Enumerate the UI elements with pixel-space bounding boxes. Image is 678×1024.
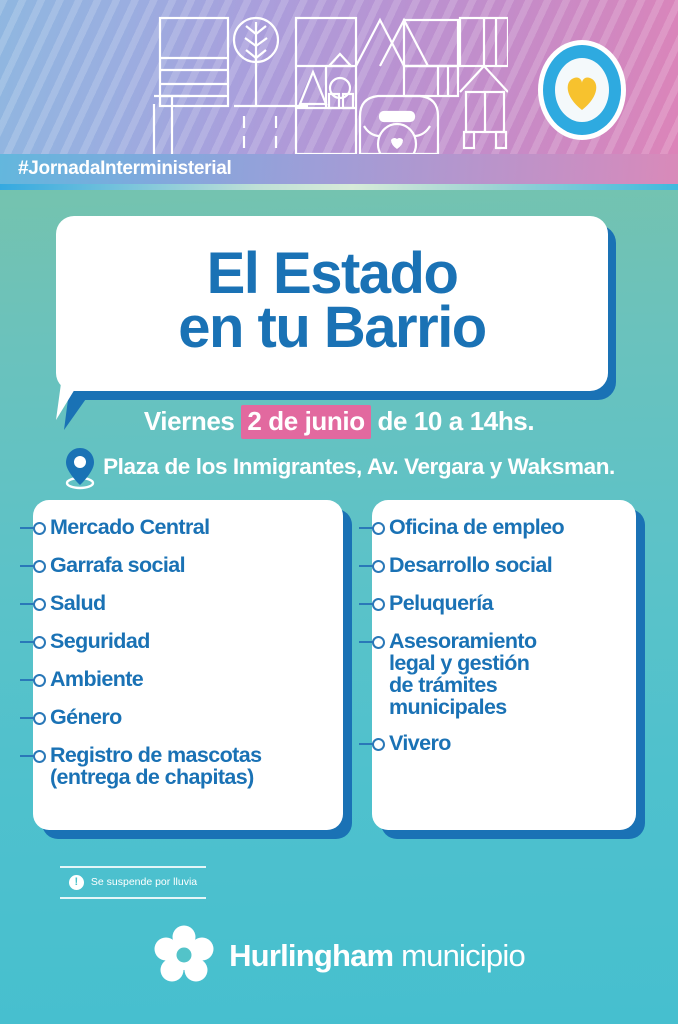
services-list-right: Oficina de empleo Desarrollo social Pelu… [372, 500, 636, 771]
list-item[interactable]: Ambiente [33, 669, 343, 693]
service-label-line3: de trámites [389, 675, 537, 697]
poster-footer: ! Se suspende por lluvia [0, 855, 678, 911]
list-item[interactable]: Asesoramiento legal y gestión de trámite… [372, 631, 636, 719]
header-underline-band [0, 184, 678, 190]
flower-logo-icon [153, 925, 215, 987]
list-item[interactable]: Oficina de empleo [372, 517, 636, 541]
service-label: Asesoramiento [389, 629, 537, 653]
bullet-circle-icon [20, 745, 50, 769]
rain-divider-bottom [60, 897, 206, 899]
date-prefix: Viernes [144, 406, 235, 436]
service-label: Seguridad [50, 629, 150, 653]
bullet-circle-icon [359, 733, 389, 757]
list-item[interactable]: Vivero [372, 733, 636, 757]
page-title: El Estado en tu Barrio [178, 247, 486, 361]
argentine-cockade-heart-icon [532, 36, 632, 144]
service-label: Oficina de empleo [389, 515, 564, 539]
municipality-name: Hurlingham municipio [229, 938, 525, 974]
services-list-left: Mercado Central Garrafa social Salud Seg… [33, 500, 343, 803]
rain-notice-label: Se suspende por lluvia [91, 876, 197, 888]
bubble-face: El Estado en tu Barrio [56, 216, 608, 391]
bullet-circle-icon [20, 555, 50, 579]
services-card-left: Mercado Central Garrafa social Salud Seg… [33, 500, 343, 830]
service-label: Ambiente [50, 667, 143, 691]
bullet-circle-icon [20, 669, 50, 693]
municipality-logo: Hurlingham municipio [0, 920, 678, 992]
list-item[interactable]: Mercado Central [33, 517, 343, 541]
bullet-circle-icon [359, 517, 389, 541]
service-label: Garrafa social [50, 553, 185, 577]
service-label: Salud [50, 591, 106, 615]
service-label: Género [50, 705, 122, 729]
municipality-name-light: municipio [393, 938, 525, 973]
list-item[interactable]: Registro de mascotas (entrega de chapita… [33, 745, 343, 789]
list-item[interactable]: Seguridad [33, 631, 343, 655]
service-label: Peluquería [389, 591, 493, 615]
date-suffix: de 10 a 14hs. [378, 406, 535, 436]
service-label: Vivero [389, 731, 451, 755]
title-speech-bubble: El Estado en tu Barrio [56, 216, 616, 406]
services-card-right: Oficina de empleo Desarrollo social Pelu… [372, 500, 636, 830]
service-label: Desarrollo social [389, 553, 552, 577]
hashtag-bar: #JornadaInterministerial [0, 154, 678, 184]
poster: #JornadaInterministerial El Estado en tu… [0, 0, 678, 1024]
exclamation-circle-icon: ! [69, 875, 84, 890]
service-label: Mercado Central [50, 515, 209, 539]
map-pin-icon [63, 446, 97, 490]
poster-header: #JornadaInterministerial [0, 0, 678, 190]
event-date-line: Viernes 2 de junio de 10 a 14hs. [0, 406, 678, 437]
hashtag-label: #JornadaInterministerial [18, 158, 232, 180]
rain-notice: ! Se suspende por lluvia [60, 858, 206, 906]
bullet-circle-icon [20, 517, 50, 541]
city-skyline-illustration [148, 8, 508, 156]
service-label-line4: municipales [389, 697, 537, 719]
list-item[interactable]: Salud [33, 593, 343, 617]
location-label: Plaza de los Inmigrantes, Av. Vergara y … [103, 454, 615, 480]
date-highlight: 2 de junio [241, 405, 370, 439]
title-line-2: en tu Barrio [178, 301, 486, 355]
list-item[interactable]: Género [33, 707, 343, 731]
list-item[interactable]: Peluquería [372, 593, 636, 617]
bullet-circle-icon [359, 631, 389, 655]
list-item[interactable]: Desarrollo social [372, 555, 636, 579]
service-label-line2: (entrega de chapitas) [50, 767, 261, 789]
service-label: Registro de mascotas [50, 743, 261, 767]
bullet-circle-icon [20, 593, 50, 617]
list-item[interactable]: Garrafa social [33, 555, 343, 579]
bullet-circle-icon [359, 555, 389, 579]
bullet-circle-icon [359, 593, 389, 617]
event-location-line: Plaza de los Inmigrantes, Av. Vergara y … [0, 444, 678, 490]
bullet-circle-icon [20, 631, 50, 655]
bullet-circle-icon [20, 707, 50, 731]
service-label-line2: legal y gestión [389, 653, 537, 675]
services-cards: Mercado Central Garrafa social Salud Seg… [33, 500, 645, 840]
municipality-name-bold: Hurlingham [229, 938, 393, 973]
